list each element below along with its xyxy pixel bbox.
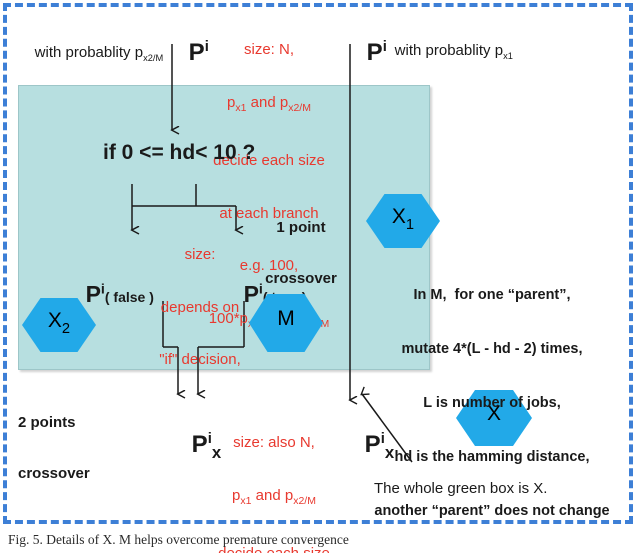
whole-box-note: The whole green box is X. bbox=[374, 481, 547, 498]
middle-red-line-3: "if" decision, bbox=[140, 351, 260, 369]
two-points-crossover-line-2: crossover bbox=[18, 465, 90, 482]
mutation-note: In M, for one “parent”, mutate 4*(L - hd… bbox=[348, 250, 636, 553]
top-red-px1-sub: x1 bbox=[235, 102, 246, 114]
left-probability-label: with probablity px2/M bbox=[18, 28, 163, 80]
hexagon-m-label: M bbox=[277, 308, 295, 335]
figure-caption: Fig. 5. Details of X. M helps overcome p… bbox=[8, 532, 632, 553]
right-probability-label: with probablity px1 bbox=[378, 26, 513, 78]
left-probability-subscript: x2/M bbox=[143, 53, 163, 63]
bottom-red-line-2: px1 and px2/M bbox=[209, 487, 339, 511]
one-point-crossover-line-1: 1 point bbox=[248, 219, 354, 236]
bottom-red-line-1: size: also N, bbox=[209, 434, 339, 452]
right-probability-subscript: x1 bbox=[503, 51, 513, 61]
p-false-p: P bbox=[86, 281, 101, 307]
px-right-p: P bbox=[365, 431, 381, 458]
px-left-p: P bbox=[192, 431, 208, 458]
top-red-line-1: size: N, bbox=[198, 41, 340, 59]
top-red-line-2: px1 and px2/M bbox=[198, 94, 340, 118]
figure-container: with probablity px2/M Pi Pi with probabl… bbox=[0, 0, 640, 553]
mutation-note-line-5: another “parent” does not change bbox=[348, 502, 636, 520]
two-points-crossover-line-1: 2 points bbox=[18, 414, 90, 431]
decision-condition: if 0 <= hd< 10 ? bbox=[103, 141, 255, 165]
right-probability-text: with probablity p bbox=[395, 42, 503, 59]
left-probability-text: with probablity p bbox=[35, 44, 143, 61]
bottom-red-px2m-sub: x2/M bbox=[293, 495, 316, 507]
hexagon-x2-label: X2 bbox=[48, 310, 70, 337]
two-points-crossover-label: 2 points crossover bbox=[18, 380, 90, 516]
hexagon-x1-label: X1 bbox=[392, 206, 414, 233]
p-false-tag: ( false ) bbox=[105, 289, 154, 305]
top-red-and: and p bbox=[246, 94, 288, 111]
top-red-px2m-sub: x2/M bbox=[288, 102, 311, 114]
mutation-note-line-1: In M, for one “parent”, bbox=[348, 286, 636, 304]
bottom-red-and: and p bbox=[251, 487, 293, 504]
px-right-symbol: Pix bbox=[338, 404, 394, 489]
bottom-red-annotation: size: also N, px1 and px2/M decide each … bbox=[209, 399, 339, 553]
mutation-note-line-2: mutate 4*(L - hd - 2) times, bbox=[348, 340, 636, 358]
p-true-p: P bbox=[244, 281, 259, 307]
bottom-red-px1-sub: x1 bbox=[240, 495, 251, 507]
px-right-subscript: x bbox=[385, 443, 394, 462]
